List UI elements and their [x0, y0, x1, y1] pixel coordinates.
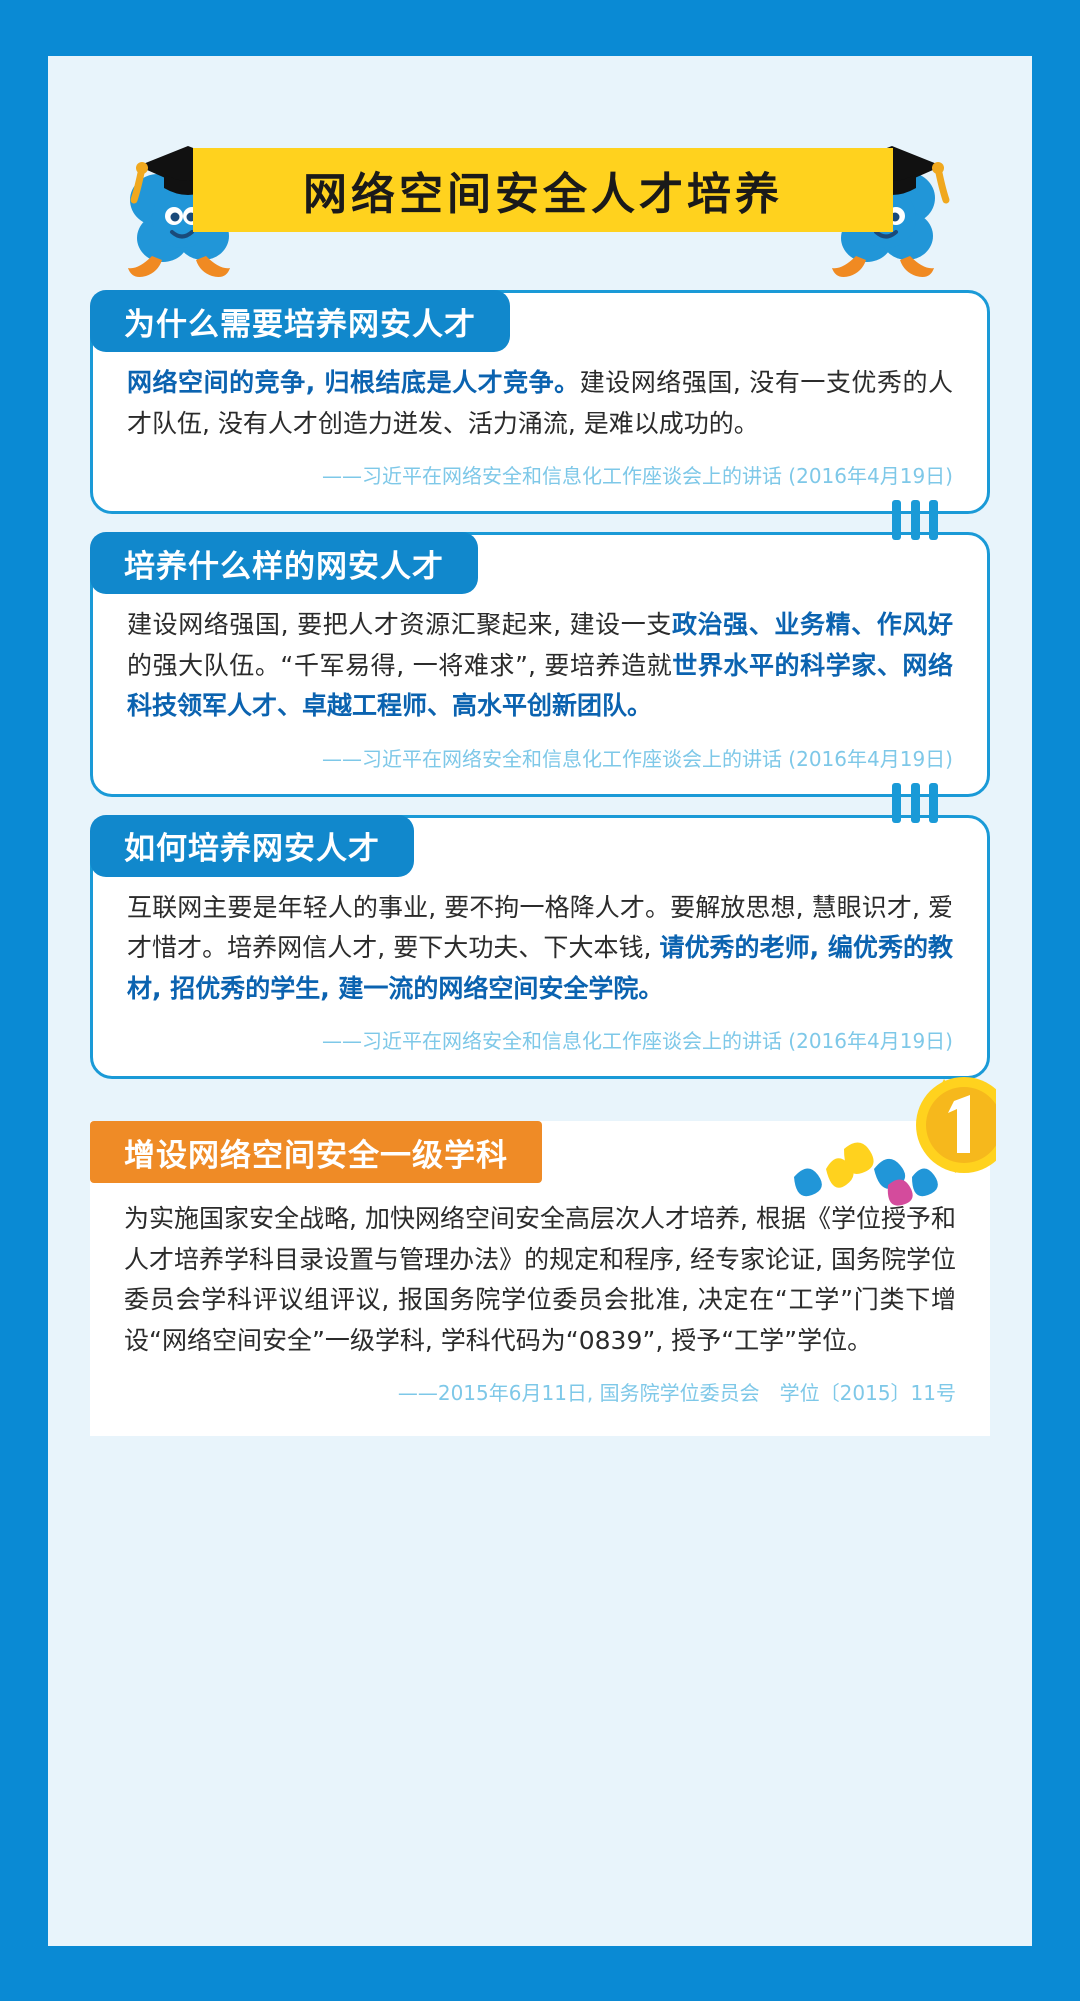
card-why-cultivate: 为什么需要培养网安人才 网络空间的竞争, 归根结底是人才竞争。建设网络强国, 没…	[90, 290, 990, 514]
card-source-4: ——2015年6月11日, 国务院学位委员会 学位〔2015〕11号	[124, 1377, 956, 1406]
card-body-segment: 建设网络强国, 要把人才资源汇聚起来, 建设一支	[127, 610, 672, 639]
card-body-4: 为实施国家安全战略, 加快网络空间安全高层次人才培养, 根据《学位授予和人才培养…	[124, 1199, 956, 1361]
card-header-label-1: 为什么需要培养网安人才	[124, 299, 476, 344]
title-banner-zone: 网络空间安全人才培养	[48, 90, 1032, 290]
card-header-2[interactable]: 培养什么样的网安人才	[90, 532, 478, 594]
card-body-3: 互联网主要是年轻人的事业, 要不拘一格降人才。要解放思想, 慧眼识才, 爱才惜才…	[127, 888, 953, 1010]
title-banner: 网络空间安全人才培养	[193, 148, 893, 232]
card-header-label-4: 增设网络空间安全一级学科	[124, 1130, 508, 1175]
card-header-3[interactable]: 如何培养网安人才	[90, 815, 414, 877]
card-header-label-3: 如何培养网安人才	[124, 823, 380, 868]
card-what-kind: 培养什么样的网安人才 建设网络强国, 要把人才资源汇聚起来, 建设一支政治强、业…	[90, 532, 990, 797]
poster-title: 网络空间安全人才培养	[303, 158, 783, 222]
card-body-2: 建设网络强国, 要把人才资源汇聚起来, 建设一支政治强、业务精、作风好的强大队伍…	[127, 605, 953, 727]
card-body-segment: 政治强、业务精、作风好	[672, 610, 953, 639]
card-source-3: ——习近平在网络安全和信息化工作座谈会上的讲话 (2016年4月19日)	[127, 1025, 953, 1054]
card-header-4[interactable]: 增设网络空间安全一级学科	[90, 1121, 542, 1183]
card-source-2: ——习近平在网络安全和信息化工作座谈会上的讲话 (2016年4月19日)	[127, 743, 953, 772]
card-how-cultivate: 如何培养网安人才 互联网主要是年轻人的事业, 要不拘一格降人才。要解放思想, 慧…	[90, 815, 990, 1080]
card-source-1: ——习近平在网络安全和信息化工作座谈会上的讲话 (2016年4月19日)	[127, 460, 953, 489]
poster: 网络空间安全人才培养 为什么需要培养网安人才 网络空间的竞争, 归根结底是人才竞…	[48, 56, 1032, 1946]
card-body-segment: 的强大队伍。“千军易得, 一将难求”, 要培养造就	[127, 651, 672, 680]
card-header-label-2: 培养什么样的网安人才	[124, 541, 444, 586]
card-header-1[interactable]: 为什么需要培养网安人才	[90, 290, 510, 352]
card-new-discipline: 增设网络空间安全一级学科	[90, 1121, 990, 1436]
cards-container: 为什么需要培养网安人才 网络空间的竞争, 归根结底是人才竞争。建设网络强国, 没…	[48, 290, 1032, 1436]
card-body-1: 网络空间的竞争, 归根结底是人才竞争。建设网络强国, 没有一支优秀的人才队伍, …	[127, 363, 953, 444]
card-body-segment: 为实施国家安全战略, 加快网络空间安全高层次人才培养, 根据《学位授予和人才培养…	[124, 1204, 956, 1355]
card-body-segment: 网络空间的竞争, 归根结底是人才竞争。	[127, 368, 580, 397]
connector-2	[892, 783, 938, 823]
connector-1	[892, 500, 938, 540]
